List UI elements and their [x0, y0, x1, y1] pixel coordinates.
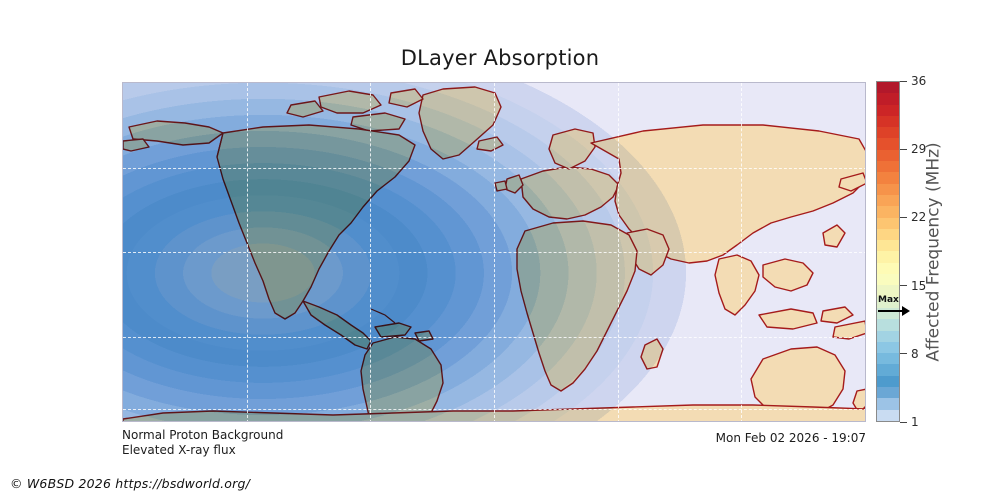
colorbar-tick: 1	[900, 416, 919, 428]
colorbar-segment	[877, 206, 899, 217]
colorbar-segment	[877, 161, 899, 172]
absorption-contours-wrap	[723, 203, 866, 422]
colorbar-segment	[877, 308, 899, 319]
colorbar-segment	[877, 342, 899, 353]
colorbar-tick-mark	[900, 149, 907, 150]
colorbar-segment	[877, 184, 899, 195]
colorbar-segment	[877, 387, 899, 398]
colorbar[interactable]: Max	[876, 81, 900, 422]
colorbar-axis-label: Affected Frequency (MHz)	[921, 81, 947, 422]
xray-status-text: Elevated X-ray flux	[122, 443, 283, 458]
colorbar-segment	[877, 263, 899, 274]
proton-status-text: Normal Proton Background	[122, 428, 283, 443]
colorbar-segment	[877, 138, 899, 149]
colorbar-tick-mark	[900, 285, 907, 286]
colorbar-segment	[877, 240, 899, 251]
colorbar-segment	[877, 229, 899, 240]
status-annotations: Normal Proton Background Elevated X-ray …	[122, 428, 283, 458]
colorbar-segment	[877, 218, 899, 229]
colorbar-segment	[877, 285, 899, 296]
page-title: DLayer Absorption	[0, 46, 1000, 70]
colorbar-segment	[877, 105, 899, 116]
colorbar-tick: 8	[900, 348, 919, 360]
colorbar-segment	[877, 172, 899, 183]
colorbar-axis-label-text: Affected Frequency (MHz)	[924, 142, 944, 361]
colorbar-segment	[877, 353, 899, 364]
colorbar-segment	[877, 410, 899, 421]
colorbar-segment	[877, 376, 899, 387]
colorbar-tick-label: 1	[911, 416, 919, 428]
colorbar-segment	[877, 116, 899, 127]
colorbar-tick-label: 8	[911, 348, 919, 360]
absorption-contours	[122, 82, 743, 422]
world-map[interactable]	[122, 82, 866, 422]
colorbar-tick-mark	[900, 422, 907, 423]
colorbar-segment	[877, 127, 899, 138]
colorbar-segment	[877, 82, 899, 93]
colorbar-gradient	[876, 81, 900, 422]
colorbar-segment	[877, 319, 899, 330]
chart-root: DLayer Absorption	[0, 0, 1000, 500]
colorbar-segment	[877, 331, 899, 342]
colorbar-tick-mark	[900, 81, 907, 82]
colorbar-segment	[877, 274, 899, 285]
colorbar-segment	[877, 195, 899, 206]
footer-credit: © W6BSD 2026 https://bsdworld.org/	[10, 476, 250, 491]
colorbar-segment	[877, 251, 899, 262]
colorbar-segment	[877, 398, 899, 409]
colorbar-segment	[877, 150, 899, 161]
timestamp: Mon Feb 02 2026 - 19:07	[716, 431, 866, 445]
colorbar-segment	[877, 364, 899, 375]
map-inner	[123, 83, 865, 421]
colorbar-segment	[877, 93, 899, 104]
colorbar-tick-mark	[900, 217, 907, 218]
colorbar-segment	[877, 297, 899, 308]
colorbar-tick-mark	[900, 353, 907, 354]
